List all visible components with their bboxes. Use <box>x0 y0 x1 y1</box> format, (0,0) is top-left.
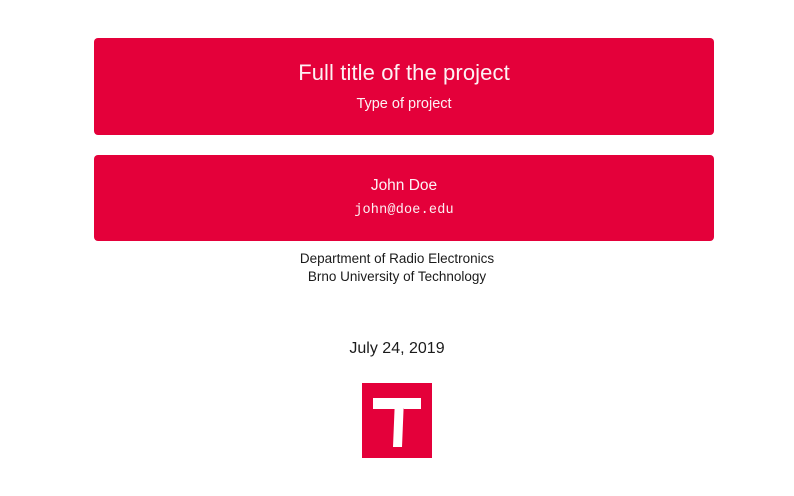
title-block: Full title of the project Type of projec… <box>94 38 714 135</box>
institute: Department of Radio Electronics Brno Uni… <box>0 250 794 286</box>
logo-container <box>0 383 794 458</box>
but-t-logo-icon <box>362 383 432 458</box>
presentation-date: July 24, 2019 <box>0 340 794 358</box>
presentation-subtitle: Type of project <box>356 96 451 113</box>
author-block: John Doe john@doe.edu <box>94 155 714 241</box>
institute-department: Department of Radio Electronics <box>0 250 794 268</box>
presentation-title: Full title of the project <box>298 60 510 86</box>
institute-university: Brno University of Technology <box>0 268 794 286</box>
title-slide: Full title of the project Type of projec… <box>0 0 794 496</box>
author-name: John Doe <box>371 177 437 196</box>
author-email[interactable]: john@doe.edu <box>354 203 454 219</box>
